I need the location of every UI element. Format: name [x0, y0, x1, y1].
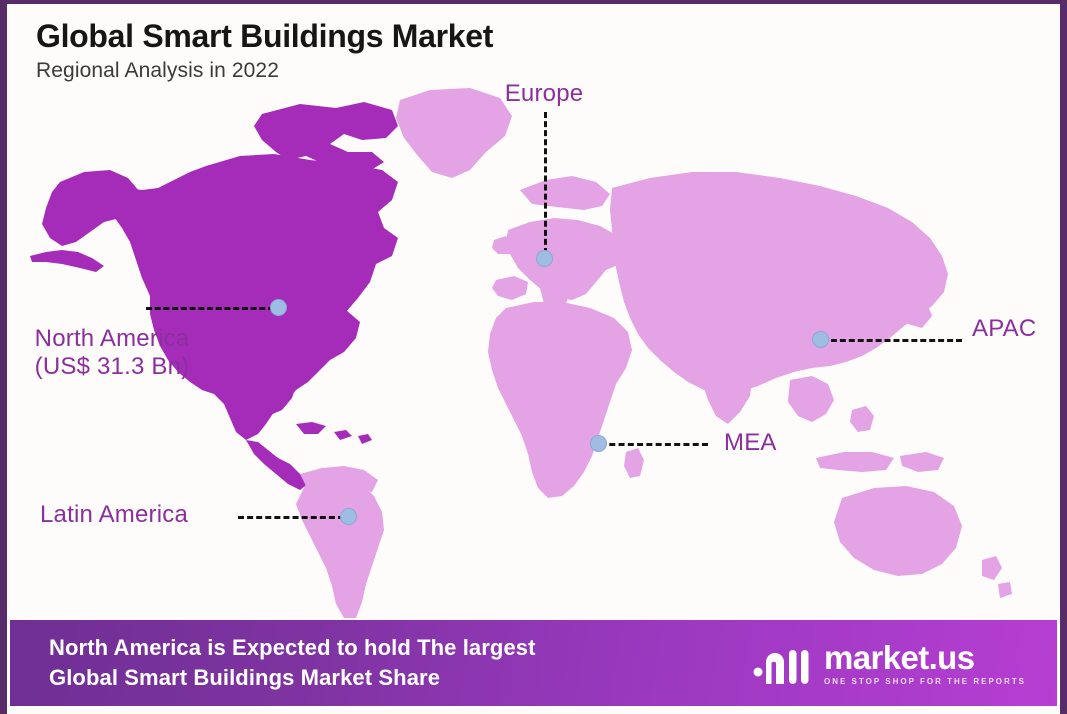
footer-banner: North America is Expected to hold The la…	[7, 620, 1060, 706]
logo-tagline: ONE STOP SHOP FOR THE REPORTS	[824, 678, 1026, 686]
region-south-america[interactable]	[296, 478, 384, 618]
footer-message-line1: North America is Expected to hold The la…	[49, 633, 536, 663]
market-us-logo[interactable]: market.us ONE STOP SHOP FOR THE REPORTS	[751, 640, 1026, 686]
logo-wordmark: market.us ONE STOP SHOP FOR THE REPORTS	[824, 641, 1026, 686]
region-indonesia	[816, 452, 894, 472]
region-iberia	[492, 276, 528, 300]
market-us-logo-icon	[751, 640, 813, 686]
region-philippines	[850, 406, 874, 432]
region-europe[interactable]	[520, 176, 610, 210]
region-madagascar	[624, 448, 644, 478]
callout-label-europe-name: Europe	[505, 80, 584, 107]
region-central-america	[246, 440, 308, 490]
callout-label-north-america-value: (US$ 31.3 Bn)	[14, 353, 210, 381]
callout-label-north-america[interactable]: North America (US$ 31.3 Bn)	[14, 325, 210, 380]
leader-line-apac	[822, 339, 962, 342]
marker-mea[interactable]	[590, 435, 607, 452]
marker-north-america[interactable]	[270, 299, 287, 316]
callout-label-mea[interactable]: MEA	[724, 429, 777, 457]
marker-europe[interactable]	[536, 250, 553, 267]
region-australia[interactable]	[834, 486, 962, 576]
leader-line-mea	[600, 443, 708, 446]
region-southeast-asia	[788, 376, 834, 422]
region-africa[interactable]	[488, 302, 632, 498]
leader-line-europe	[544, 112, 547, 254]
region-india	[702, 358, 752, 424]
left-rail-decoration	[0, 0, 7, 714]
header-block: Global Smart Buildings Market Regional A…	[36, 18, 493, 83]
region-asia[interactable]	[610, 172, 948, 394]
marker-latin-america[interactable]	[340, 508, 357, 525]
region-caribbean	[296, 422, 372, 444]
region-alaska	[42, 170, 140, 246]
left-rail-inner	[7, 0, 10, 714]
callout-label-mea-name: MEA	[724, 429, 777, 456]
callout-label-latin-america-name: Latin America	[40, 501, 188, 528]
callout-label-apac[interactable]: APAC	[972, 315, 1036, 343]
region-new-zealand	[982, 556, 1012, 598]
marker-apac[interactable]	[812, 331, 829, 348]
leader-line-north-america	[146, 307, 274, 310]
page-title: Global Smart Buildings Market	[36, 18, 493, 55]
right-rail-decoration	[1060, 0, 1067, 714]
callout-label-latin-america[interactable]: Latin America	[40, 501, 188, 529]
top-rule-divider	[0, 0, 1067, 4]
leader-line-latin-america	[238, 516, 344, 519]
callout-label-north-america-name: North America	[35, 325, 190, 352]
page-subtitle: Regional Analysis in 2022	[36, 59, 493, 83]
footer-message-line2: Global Smart Buildings Market Share	[49, 663, 536, 693]
region-new-guinea	[900, 452, 944, 472]
callout-label-europe[interactable]: Europe	[474, 80, 614, 108]
logo-name: market.us	[824, 641, 1026, 674]
infographic-canvas: Global Smart Buildings Market Regional A…	[0, 0, 1067, 714]
callout-label-apac-name: APAC	[972, 315, 1036, 342]
footer-message: North America is Expected to hold The la…	[49, 633, 536, 692]
region-aleutians	[30, 250, 104, 272]
